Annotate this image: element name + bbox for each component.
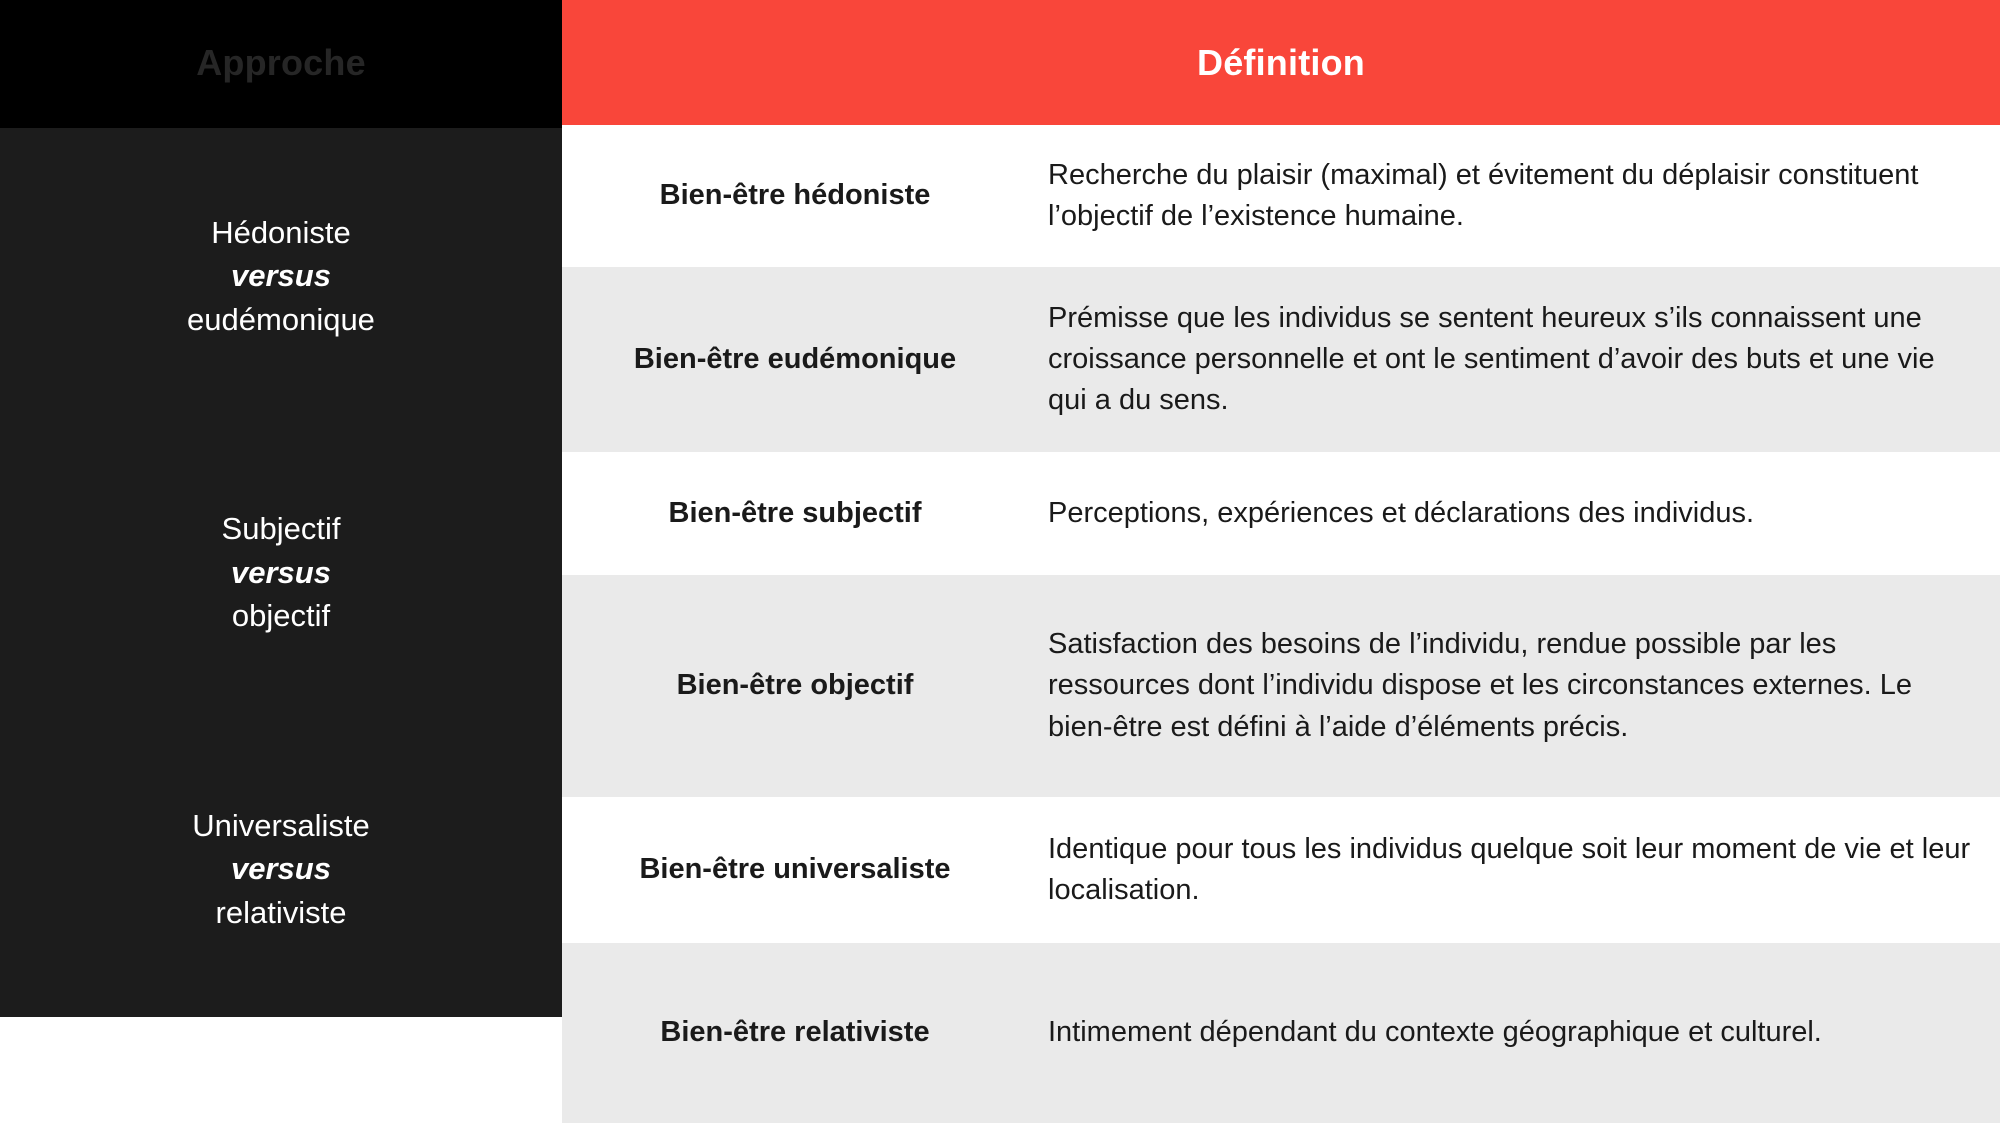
approach-groups-list: Hédoniste versus eudémonique Subjectif v… (0, 128, 562, 1023)
definition-text: Recherche du plaisir (maximal) et évitem… (1040, 155, 2000, 237)
approach-group-top-label: Subjectif (222, 507, 341, 550)
approach-group-hedoniste: Hédoniste versus eudémonique (0, 128, 562, 424)
term-label: Bien-être hédoniste (562, 177, 1040, 215)
approach-column: Approche Hédoniste versus eudémonique Su… (0, 0, 562, 1023)
definition-text: Satisfaction des besoins de l’individu, … (1040, 624, 2000, 748)
term-label: Bien-être universaliste (562, 851, 1040, 889)
approach-group-versus-label: versus (187, 254, 375, 297)
wellbeing-approaches-table: Approche Hédoniste versus eudémonique Su… (0, 0, 2000, 1023)
approach-group-bottom-label: objectif (222, 594, 341, 637)
table-row: Bien-être eudémonique Prémisse que les i… (562, 267, 2000, 452)
approach-group-subjectif: Subjectif versus objectif (0, 424, 562, 720)
approach-group-top-label: Hédoniste (187, 211, 375, 254)
definition-text: Prémisse que les individus se sentent he… (1040, 298, 2000, 422)
term-label: Bien-être eudémonique (562, 341, 1040, 379)
term-label: Bien-être subjectif (562, 495, 1040, 533)
table-row: Bien-être subjectif Perceptions, expérie… (562, 452, 2000, 575)
approach-group-versus-label: versus (222, 551, 341, 594)
approach-group-universaliste: Universaliste versus relativiste (0, 721, 562, 1017)
approach-header-label: Approche (196, 42, 366, 84)
term-label: Bien-être relativiste (562, 1014, 1040, 1052)
definition-column-header: Définition (562, 0, 2000, 125)
approach-group-bottom-label: relativiste (192, 891, 369, 934)
term-label: Bien-être objectif (562, 667, 1040, 705)
approach-column-header: Approche (0, 0, 562, 128)
approach-group-versus-label: versus (192, 847, 369, 890)
definition-rows: Bien-être hédoniste Recherche du plaisir… (562, 125, 2000, 1123)
table-row: Bien-être objectif Satisfaction des beso… (562, 575, 2000, 797)
table-row: Bien-être relativiste Intimement dépenda… (562, 943, 2000, 1123)
approach-group-bottom-label: eudémonique (187, 298, 375, 341)
definition-text: Intimement dépendant du contexte géograp… (1040, 1012, 2000, 1053)
definition-text: Perceptions, expériences et déclarations… (1040, 493, 2000, 534)
definition-header-label: Définition (1197, 42, 1365, 84)
definition-text: Identique pour tous les individus quelqu… (1040, 829, 2000, 911)
table-row: Bien-être hédoniste Recherche du plaisir… (562, 125, 2000, 267)
definition-column: Définition Bien-être hédoniste Recherche… (562, 0, 2000, 1023)
approach-group-top-label: Universaliste (192, 804, 369, 847)
table-row: Bien-être universaliste Identique pour t… (562, 797, 2000, 943)
